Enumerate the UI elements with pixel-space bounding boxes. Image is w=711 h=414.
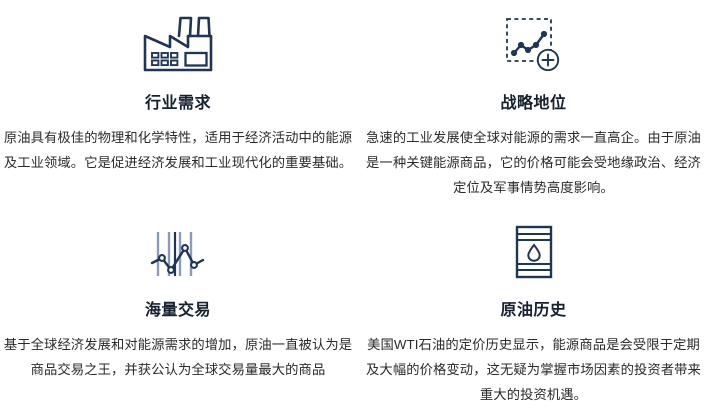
- card-body: 美国WTI石油的定价历史显示，能源商品是会受限于定期及大幅的价格变动，这无疑为掌…: [356, 332, 711, 407]
- feature-card-massive-trading: 海量交易 基于全球经济发展和对能源需求的增加，原油一直被认为是商品交易之王，并获…: [0, 207, 356, 414]
- card-body: 原油具有极佳的物理和化学特性，适用于经济活动中的能源及工业领域。它是促进经济发展…: [0, 125, 356, 175]
- card-title: 行业需求: [145, 93, 211, 115]
- feature-grid: 行业需求 原油具有极佳的物理和化学特性，适用于经济活动中的能源及工业领域。它是促…: [0, 0, 711, 414]
- card-title: 海量交易: [145, 300, 211, 322]
- feature-card-industry-demand: 行业需求 原油具有极佳的物理和化学特性，适用于经济活动中的能源及工业领域。它是促…: [0, 0, 356, 207]
- feature-card-strategic-position: 战略地位 急速的工业发展使全球对能源的需求一直高企。由于原油是一种关键能源商品，…: [356, 0, 711, 207]
- card-body: 基于全球经济发展和对能源需求的增加，原油一直被认为是商品交易之王，并获公认为全球…: [0, 332, 356, 382]
- factory-icon: [141, 6, 215, 84]
- line-chart-add-icon: [503, 6, 565, 84]
- oil-barrel-icon: [511, 213, 557, 291]
- card-title: 原油历史: [500, 300, 566, 322]
- card-body: 急速的工业发展使全球对能源的需求一直高企。由于原油是一种关键能源商品，它的价格可…: [356, 125, 711, 200]
- volume-bars-chart-icon: [149, 213, 207, 291]
- feature-card-crude-oil-history: 原油历史 美国WTI石油的定价历史显示，能源商品是会受限于定期及大幅的价格变动，…: [356, 207, 711, 414]
- card-title: 战略地位: [500, 93, 566, 115]
